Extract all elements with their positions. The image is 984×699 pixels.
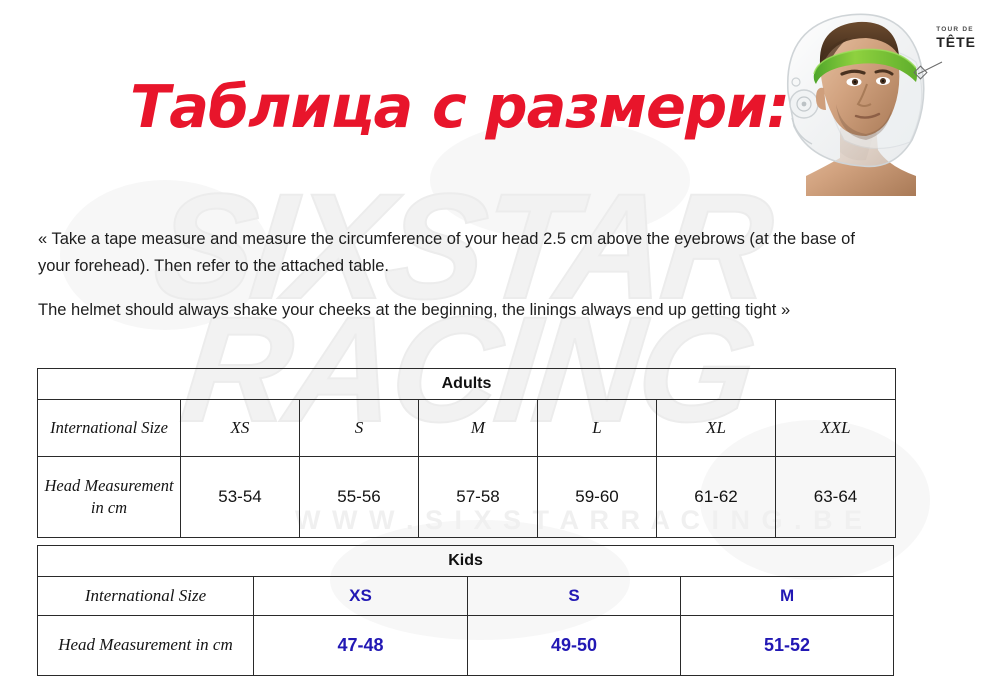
adults-size-table: Adults International Size XS S M L XL XX… — [37, 368, 896, 538]
caption-tete: TÊTE — [936, 34, 976, 50]
kids-table-header: Kids — [38, 546, 894, 577]
instruction-paragraph-2: The helmet should always shake your chee… — [38, 297, 888, 324]
adults-measurement-s: 55-56 — [300, 457, 419, 538]
kids-row-label-size: International Size — [38, 577, 254, 616]
instruction-paragraph-1: « Take a tape measure and measure the ci… — [38, 226, 888, 279]
hero-caption: TOUR DE TÊTE — [936, 26, 976, 50]
table-row-kids-measurements: Head Measurement in cm 47-48 49-50 51-52 — [38, 616, 894, 676]
adults-measurement-m: 57-58 — [419, 457, 538, 538]
kids-size-s: S — [468, 577, 681, 616]
table-row-kids-sizes: International Size XS S M — [38, 577, 894, 616]
table-row-adults-header: Adults — [38, 369, 896, 400]
kids-measurement-xs: 47-48 — [254, 616, 468, 676]
adults-size-xxl: XXL — [776, 400, 896, 457]
adults-size-s: S — [300, 400, 419, 457]
kids-measurement-m: 51-52 — [681, 616, 894, 676]
kids-row-label-measurement: Head Measurement in cm — [38, 616, 254, 676]
adults-measurement-xxl: 63-64 — [776, 457, 896, 538]
table-row-kids-header: Kids — [38, 546, 894, 577]
adults-size-xl: XL — [657, 400, 776, 457]
table-row-adults-measurements: Head Measurement in cm 53-54 55-56 57-58… — [38, 457, 896, 538]
adults-measurement-xl: 61-62 — [657, 457, 776, 538]
instructions-block: « Take a tape measure and measure the ci… — [38, 226, 888, 342]
caption-tour-de: TOUR DE — [936, 26, 976, 33]
kids-size-m: M — [681, 577, 894, 616]
adults-measurement-l: 59-60 — [538, 457, 657, 538]
kids-measurement-s: 49-50 — [468, 616, 681, 676]
adults-measurement-xs: 53-54 — [181, 457, 300, 538]
kids-size-xs: XS — [254, 577, 468, 616]
adults-row-label-measurement: Head Measurement in cm — [38, 457, 181, 538]
kids-size-table: Kids International Size XS S M Head Meas… — [37, 545, 894, 676]
table-row-adults-sizes: International Size XS S M L XL XXL — [38, 400, 896, 457]
adults-table-header: Adults — [38, 369, 896, 400]
page-title: Таблица с размери: — [130, 72, 789, 141]
adults-size-l: L — [538, 400, 657, 457]
head-measurement-photo: TOUR DE TÊTE — [766, 0, 984, 196]
adults-size-xs: XS — [181, 400, 300, 457]
adults-size-m: M — [419, 400, 538, 457]
adults-row-label-size: International Size — [38, 400, 181, 457]
